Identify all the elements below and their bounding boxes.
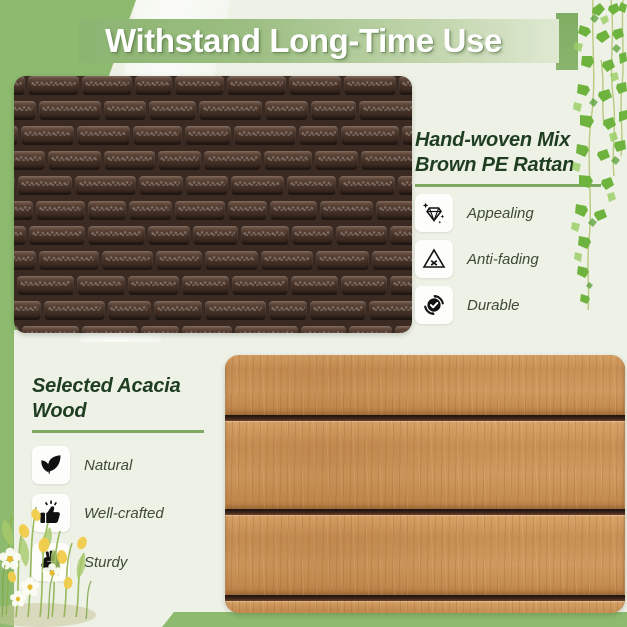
anti-fading-icon (415, 240, 453, 278)
feature-label: Durable (467, 297, 520, 314)
rattan-texture-image (14, 76, 412, 333)
acacia-wood-image (225, 355, 625, 613)
feature-durable: Durable (415, 286, 520, 324)
feature-label: Appealing (467, 205, 534, 222)
feature-label: Anti-fading (467, 251, 539, 268)
feature-anti-fading: Anti-fading (415, 240, 539, 278)
watercolor-flowers-decoration (0, 427, 116, 627)
infographic-canvas: Withstand Long-Time Use Hand-woven Mix B… (0, 0, 627, 627)
header-band: Withstand Long-Time Use (79, 19, 559, 63)
feature-appealing: Appealing (415, 194, 534, 232)
rattan-weave-pattern (14, 76, 412, 333)
page-title: Withstand Long-Time Use (105, 18, 502, 63)
wood-heading: Selected Acacia Wood (32, 374, 204, 433)
hanging-ivy-decoration (531, 0, 627, 330)
wood-heading-text: Selected Acacia Wood (32, 375, 181, 422)
durable-refresh-check-icon (415, 286, 453, 324)
diamond-icon (415, 194, 453, 232)
